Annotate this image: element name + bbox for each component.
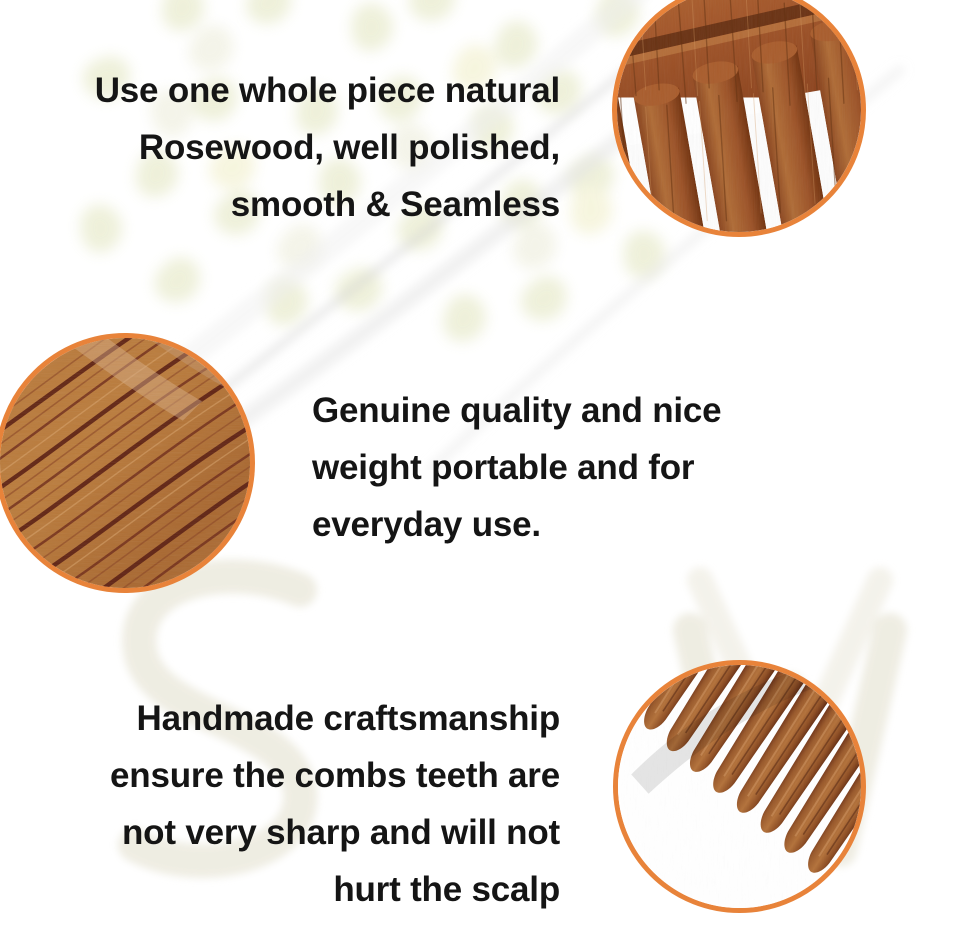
rosewood-grain-photo-art [0, 333, 255, 593]
feature-text-genuine-quality: Genuine quality and nice weight portable… [312, 382, 812, 553]
comb-teeth-tips-photo-art [613, 660, 866, 913]
photo-circle-comb-teeth-tips [613, 660, 866, 913]
feature-text-handmade-craftsmanship: Handmade craftsmanship ensure the combs … [20, 690, 560, 918]
comb-teeth-base-photo-art [612, 0, 866, 237]
infographic-canvas: Use one whole piece natural Rosewood, we… [0, 0, 974, 928]
photo-circle-comb-teeth-base [612, 0, 866, 237]
feature-text-one-piece-rosewood: Use one whole piece natural Rosewood, we… [20, 62, 560, 233]
photo-circle-wood-grain [0, 333, 255, 593]
